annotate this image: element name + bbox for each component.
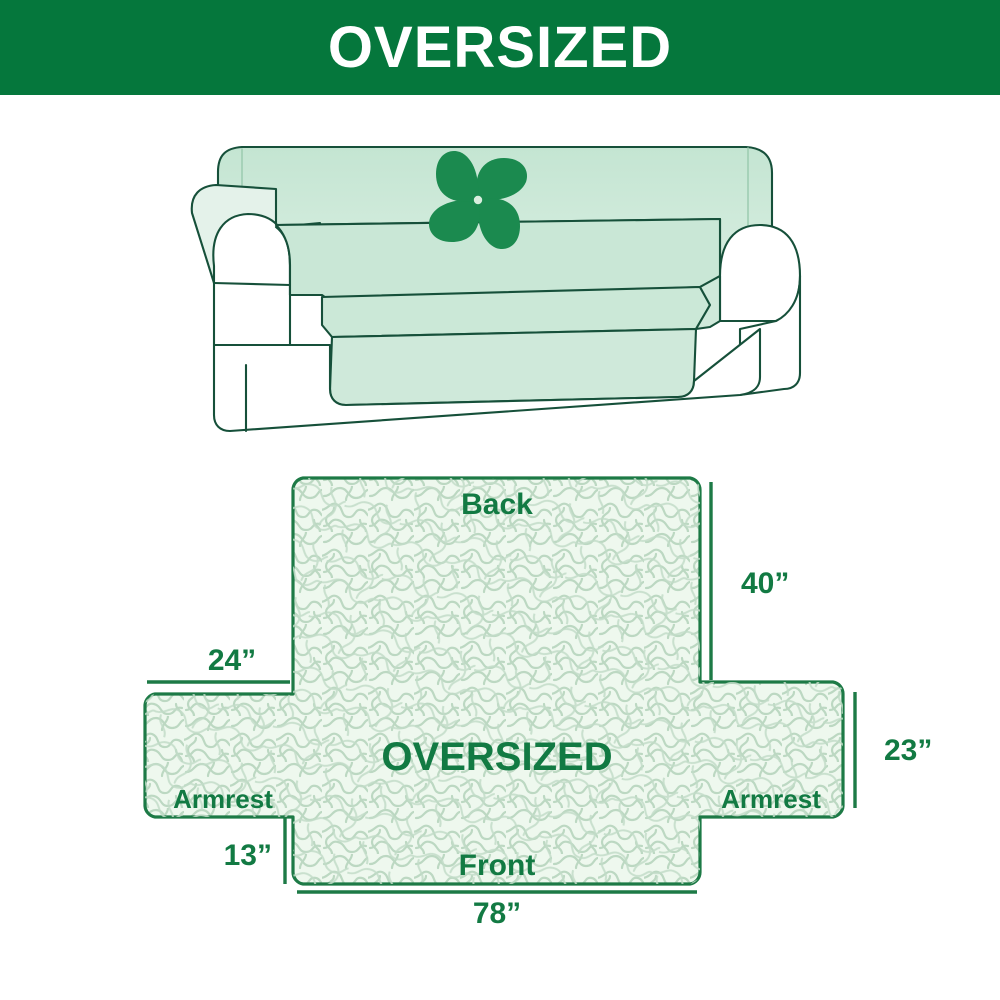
header-banner: OVERSIZED <box>0 0 1000 95</box>
sofa-drawing <box>180 115 830 445</box>
label-left-armrest: Armrest <box>173 784 273 814</box>
sofa-seat-front <box>330 329 696 405</box>
dim-label-13: 13” <box>224 839 272 872</box>
sofa-illustration <box>180 115 830 445</box>
label-front: Front <box>459 849 536 882</box>
label-product-oversized: OVERSIZED <box>381 735 612 779</box>
label-back: Back <box>461 488 533 521</box>
dim-label-78: 78” <box>473 897 521 930</box>
product-size-infographic: OVERSIZED <box>0 0 1000 1000</box>
dim-label-40: 40” <box>741 567 789 600</box>
page-title: OVERSIZED <box>328 19 672 77</box>
sofa-right-armrest <box>720 225 800 321</box>
flat-dimension-diagram: Back OVERSIZED Front Armrest Armrest 24”… <box>0 440 1000 1000</box>
label-right-armrest: Armrest <box>721 784 821 814</box>
dim-label-23: 23” <box>884 734 932 767</box>
diagram-drawing: Back OVERSIZED Front Armrest Armrest 24”… <box>0 440 1000 1000</box>
sofa-left-armrest <box>213 214 290 347</box>
dim-label-24: 24” <box>208 644 256 677</box>
